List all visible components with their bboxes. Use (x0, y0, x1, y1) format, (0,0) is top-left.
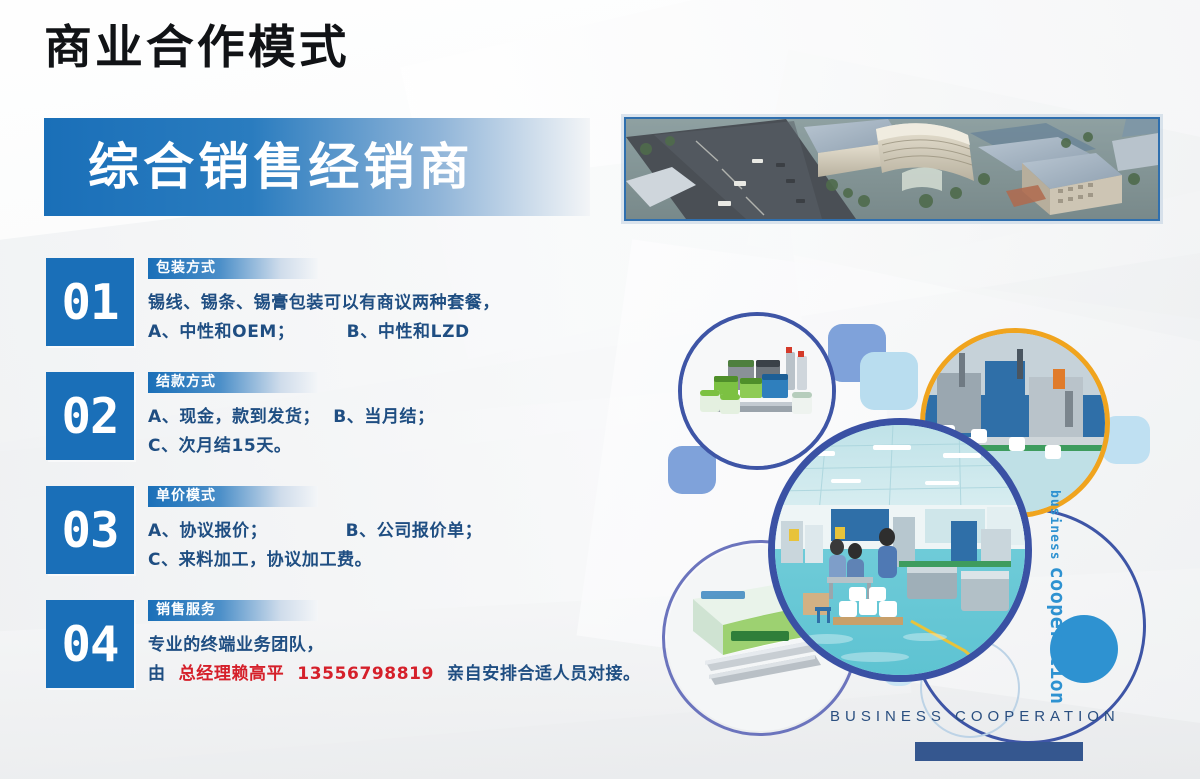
poster-canvas: 商业合作模式 综合销售经销商 (0, 0, 1200, 779)
factory-floor-photo (768, 418, 1032, 682)
item-lines: A、现金，款到发货； B、当月结； C、次月结15天。 (148, 403, 435, 461)
product-cans-art (682, 316, 832, 466)
item-lines: 锡线、锡条、锡膏包装可以有商议两种套餐， A、中性和OEM； B、中性和LZD (148, 289, 500, 347)
contact-suffix: 亲自安排合适人员对接。 (434, 664, 641, 684)
item-line: A、中性和OEM； B、中性和LZD (148, 318, 500, 347)
item-line: 锡线、锡条、锡膏包装可以有商议两种套餐， (148, 289, 500, 318)
vertical-business-label: business (1047, 490, 1062, 561)
item-body: 包装方式 锡线、锡条、锡膏包装可以有商议两种套餐， A、中性和OEM； B、中性… (148, 258, 500, 347)
item-body: 单价模式 A、协议报价； B、公司报价单； C、来料加工，协议加工费。 (148, 486, 482, 575)
footer-dot-row (919, 742, 1197, 761)
item-body: 结款方式 A、现金，款到发货； B、当月结； C、次月结15天。 (148, 372, 435, 461)
factory-floor-art (775, 425, 1025, 675)
item-number-box: 01 (46, 258, 134, 346)
contact-gap (284, 664, 297, 684)
item-lines: 专业的终端业务团队， 由 总经理赖高平 13556798819 亲自安排合适人员… (148, 631, 641, 689)
item-line: 专业的终端业务团队， (148, 631, 641, 660)
graphics-cluster (620, 240, 1200, 710)
item-line: C、次月结15天。 (148, 432, 435, 461)
item-number-box: 03 (46, 486, 134, 574)
item-line: A、协议报价； B、公司报价单； (148, 517, 482, 546)
contact-phone-number: 13556798819 (297, 664, 434, 684)
item-number-label: 02 (61, 392, 118, 441)
vertical-cooperation-label: cooperation (1046, 567, 1070, 705)
item-chip-label: 包装方式 (148, 258, 318, 279)
vertical-business-cooperation: business cooperation (1022, 488, 1082, 618)
item-lines: A、协议报价； B、公司报价单； C、来料加工，协议加工费。 (148, 517, 482, 575)
item-contact-line: 由 总经理赖高平 13556798819 亲自安排合适人员对接。 (148, 660, 641, 689)
item-body: 销售服务 专业的终端业务团队， 由 总经理赖高平 13556798819 亲自安… (148, 600, 641, 689)
item-number-box: 02 (46, 372, 134, 460)
item-chip-label: 结款方式 (148, 372, 318, 393)
decor-square-b (860, 352, 918, 410)
item-line: C、来料加工，协议加工费。 (148, 546, 482, 575)
item-line: A、现金，款到发货； B、当月结； (148, 403, 435, 432)
aerial-campus-photo (624, 117, 1160, 221)
aerial-photo-art (626, 119, 1158, 219)
page-title: 商业合作模式 (44, 24, 350, 70)
item-number-box: 04 (46, 600, 134, 688)
headline-label: 综合销售经销商 (88, 138, 474, 196)
footer-title: BUSINESS COOPERATION (830, 708, 1120, 725)
product-cans-photo (678, 312, 836, 470)
contact-manager-name: 总经理赖高平 (179, 664, 285, 684)
contact-prefix: 由 (148, 664, 179, 684)
item-number-label: 03 (61, 506, 118, 555)
item-number-label: 01 (61, 278, 118, 327)
item-chip-label: 销售服务 (148, 600, 318, 621)
headline-banner: 综合销售经销商 (44, 118, 590, 216)
item-chip-label: 单价模式 (148, 486, 318, 507)
item-number-label: 04 (61, 620, 118, 669)
